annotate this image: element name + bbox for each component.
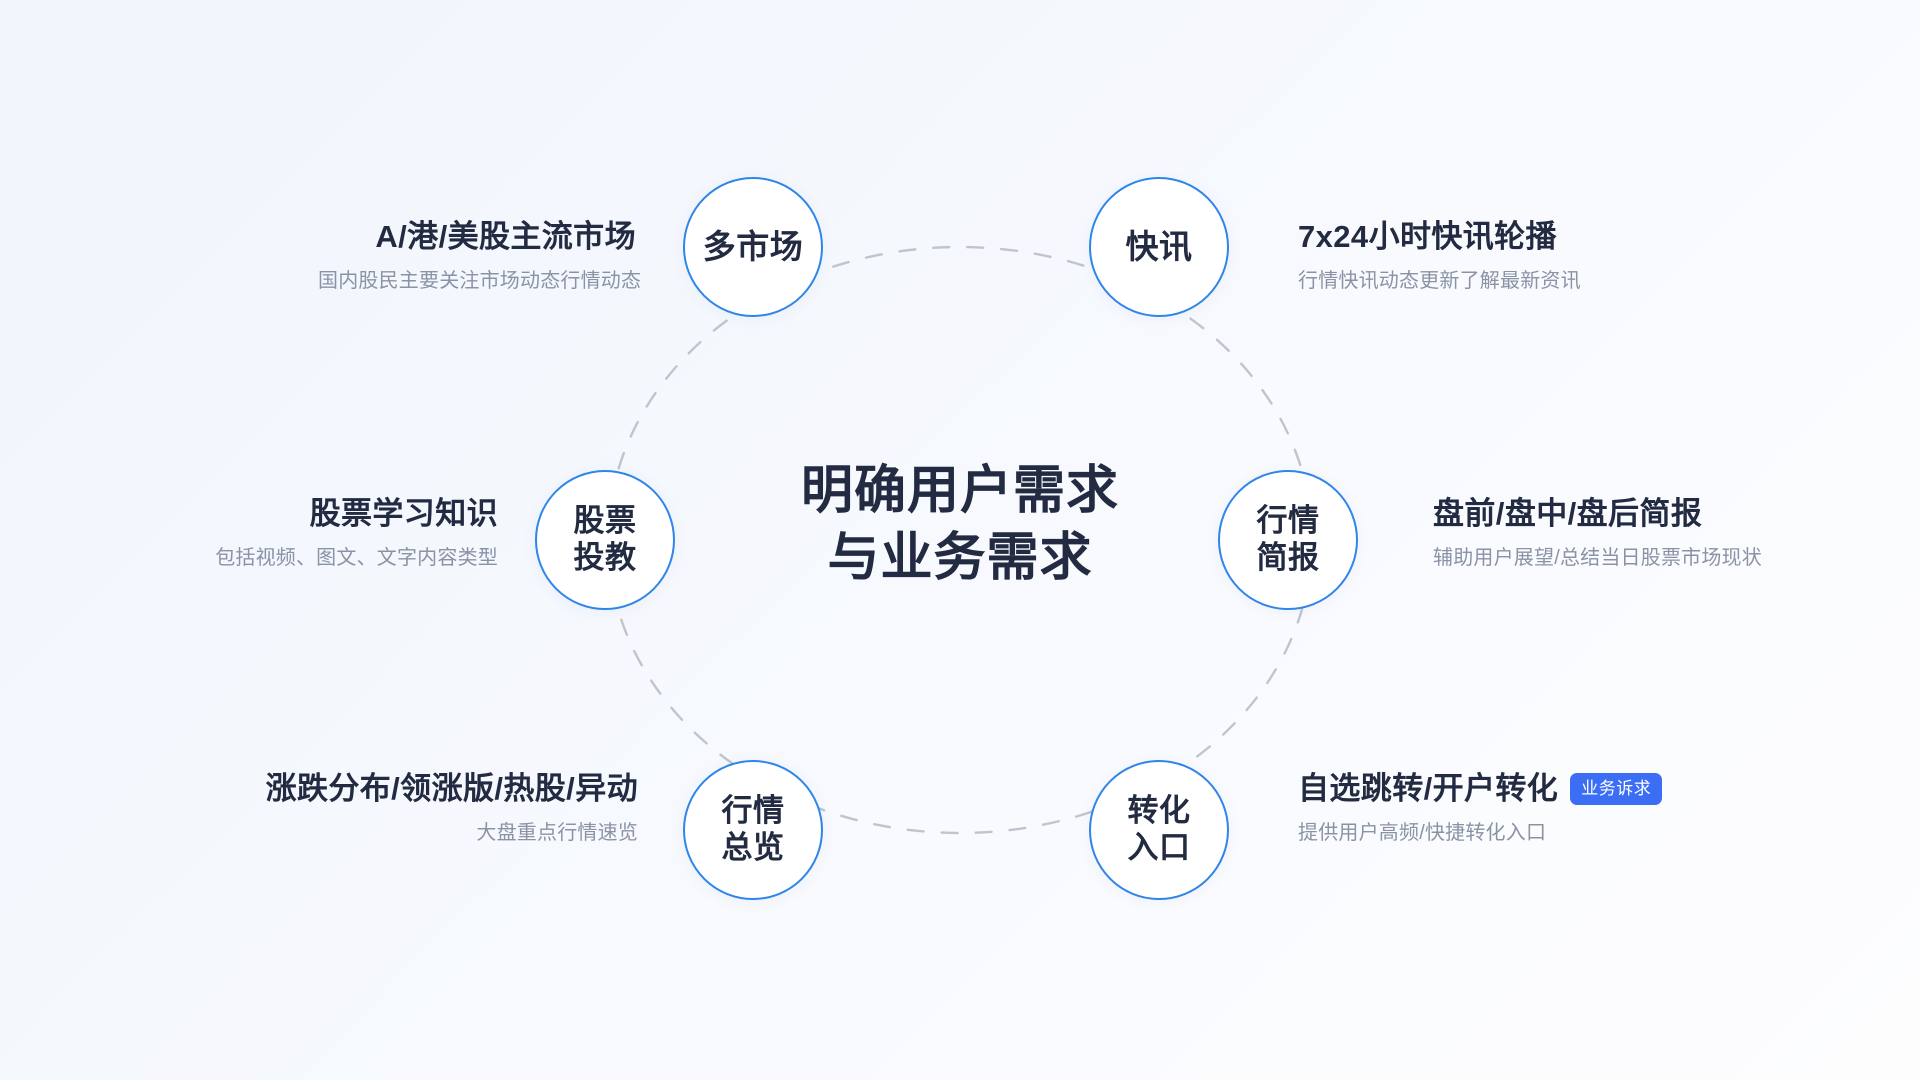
- callout-sub-multi-market: 国内股民主要关注市场动态行情动态: [318, 269, 636, 294]
- callout-headline-market-overview: 涨跌分布/领涨版/热股/异动: [168, 770, 638, 809]
- node-label-flash-news: 快讯: [1126, 228, 1193, 267]
- callout-sub-stock-edu: 包括视频、图文、文字内容类型: [140, 546, 498, 571]
- node-circle-stock-edu[interactable]: 股票 投教: [535, 470, 675, 610]
- center-headline-line-1: 明确用户需求: [760, 458, 1160, 525]
- node-label-multi-market: 多市场: [703, 228, 804, 267]
- center-headline-line-2: 与业务需求: [760, 525, 1160, 592]
- callout-quote-brief: 盘前/盘中/盘后简报 辅助用户展望/总结当日股票市场现状: [1433, 495, 1762, 571]
- callout-flash-news: 7x24小时快讯轮播 行情快讯动态更新了解最新资讯: [1298, 218, 1581, 294]
- diagram-canvas: 明确用户需求 与业务需求 多市场 快讯 行情 简报 转化 入口 行情 总览 股票…: [0, 0, 1920, 1080]
- callout-market-overview: 涨跌分布/领涨版/热股/异动 大盘重点行情速览: [168, 770, 638, 846]
- node-circle-market-overview[interactable]: 行情 总览: [683, 760, 823, 900]
- callout-headline-conversion-text: 自选跳转/开户转化: [1298, 770, 1558, 809]
- node-circle-quote-brief[interactable]: 行情 简报: [1218, 470, 1358, 610]
- callout-stock-edu: 股票学习知识 包括视频、图文、文字内容类型: [140, 495, 498, 571]
- callout-sub-flash-news: 行情快讯动态更新了解最新资讯: [1298, 269, 1581, 294]
- node-circle-multi-market[interactable]: 多市场: [683, 177, 823, 317]
- callout-headline-conversion: 自选跳转/开户转化 业务诉求: [1298, 770, 1662, 809]
- node-label-conversion: 转化 入口: [1128, 793, 1191, 866]
- callout-headline-quote-brief: 盘前/盘中/盘后简报: [1433, 495, 1762, 534]
- callout-sub-conversion: 提供用户高频/快捷转化入口: [1298, 821, 1662, 846]
- center-headline: 明确用户需求 与业务需求: [760, 458, 1160, 591]
- callout-multi-market: A/港/美股主流市场 国内股民主要关注市场动态行情动态: [318, 218, 636, 294]
- callout-headline-stock-edu: 股票学习知识: [140, 495, 498, 534]
- node-circle-flash-news[interactable]: 快讯: [1089, 177, 1229, 317]
- callout-headline-flash-news: 7x24小时快讯轮播: [1298, 218, 1581, 257]
- status-badge-business-requirement: 业务诉求: [1570, 773, 1662, 805]
- callout-headline-multi-market: A/港/美股主流市场: [318, 218, 636, 257]
- node-label-quote-brief: 行情 简报: [1257, 503, 1320, 576]
- callout-sub-quote-brief: 辅助用户展望/总结当日股票市场现状: [1433, 546, 1762, 571]
- callout-sub-market-overview: 大盘重点行情速览: [168, 821, 638, 846]
- node-circle-conversion[interactable]: 转化 入口: [1089, 760, 1229, 900]
- node-label-market-overview: 行情 总览: [722, 793, 785, 866]
- node-label-stock-edu: 股票 投教: [574, 503, 637, 576]
- callout-conversion: 自选跳转/开户转化 业务诉求 提供用户高频/快捷转化入口: [1298, 770, 1662, 846]
